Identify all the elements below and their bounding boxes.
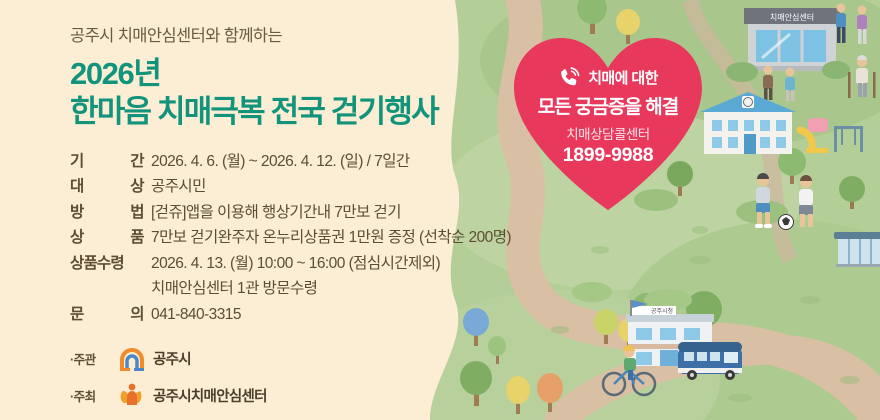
svg-text:공주시청: 공주시청 [651, 308, 673, 315]
info-row: 대상공주시민 [70, 174, 520, 196]
organizer-list: ·주관공주시·주최공주시치매안심센터 [70, 345, 520, 410]
dementia-care-center-building: 치매안심센터 [744, 8, 840, 71]
info-value: 041-840-3315 [144, 306, 241, 324]
dementia-center-logo-icon [118, 382, 146, 410]
badge-line-1: 치매에 대한 [588, 67, 658, 88]
badge-call-center-label: 치매상담콜센터 [566, 123, 649, 143]
bus-shelter [834, 232, 880, 267]
organizer-label: ·주관 [70, 349, 118, 368]
info-label: 방법 [70, 200, 144, 222]
info-label: 기간 [70, 149, 144, 171]
info-row: 상품수령2026. 4. 13. (월) 10:00 ~ 16:00 (점심시간… [70, 251, 520, 273]
info-value: 공주시민 [144, 174, 206, 196]
info-row: 기간2026. 4. 6. (월) ~ 2026. 4. 12. (일) / 7… [70, 149, 520, 171]
info-value: 7만보 걷기완주자 온누리상품권 1만원 증정 (선착순 200명) [144, 225, 511, 247]
organizer-row: ·주관공주시 [70, 345, 520, 373]
page-title-line1: 2026년 [70, 55, 520, 93]
text-panel: 공주시 치매안심센터와 함께하는 2026년 한마음 치매극복 전국 걷기행사 … [0, 0, 520, 420]
subtitle: 공주시 치매안심센터와 함께하는 [70, 22, 520, 46]
info-label: 상품 [70, 225, 144, 247]
info-label: 대상 [70, 174, 144, 196]
info-label: 상품수령 [70, 251, 144, 273]
organizer-label: ·주최 [70, 386, 118, 405]
info-row: 방법[걷쥬]앱을 이용해 행상기간내 7만보 걷기 [70, 200, 520, 222]
gongju-arch-logo-icon [118, 345, 146, 373]
info-value: [걷쥬]앱을 이용해 행상기간내 7만보 걷기 [144, 200, 401, 222]
info-row: 문의041-840-3315 [70, 302, 520, 324]
info-value: 2026. 4. 6. (월) ~ 2026. 4. 12. (일) / 7일간 [144, 149, 410, 171]
phone-call-icon [558, 66, 581, 89]
badge-line-2: 모든 궁금증을 해결 [538, 92, 678, 119]
badge-phone-number: 1899-9988 [563, 144, 654, 167]
svg-text:치매안심센터: 치매안심센터 [770, 12, 814, 22]
info-value: 2026. 4. 13. (월) 10:00 ~ 16:00 (점심시간제외) [144, 251, 440, 273]
info-list: 기간2026. 4. 6. (월) ~ 2026. 4. 12. (일) / 7… [70, 149, 520, 324]
organizer-row: ·주최공주시치매안심센터 [70, 382, 520, 410]
page-title-line2: 한마음 치매극복 전국 걷기행사 [70, 93, 520, 131]
poster-root: 치매안심센터 [0, 0, 880, 420]
info-row: 상품7만보 걷기완주자 온누리상품권 1만원 증정 (선착순 200명) [70, 225, 520, 247]
info-label: 문의 [70, 302, 144, 324]
info-value: 치매안심센터 1관 방문수령 [144, 276, 317, 298]
info-row: 치매안심센터 1관 방문수령 [70, 276, 520, 298]
dementia-call-center-badge[interactable]: 치매에 대한 모든 궁금증을 해결 치매상담콜센터 1899-9988 [508, 24, 708, 214]
organizer-name: 공주시 [153, 348, 191, 369]
organizer-name: 공주시치매안심센터 [153, 385, 267, 406]
